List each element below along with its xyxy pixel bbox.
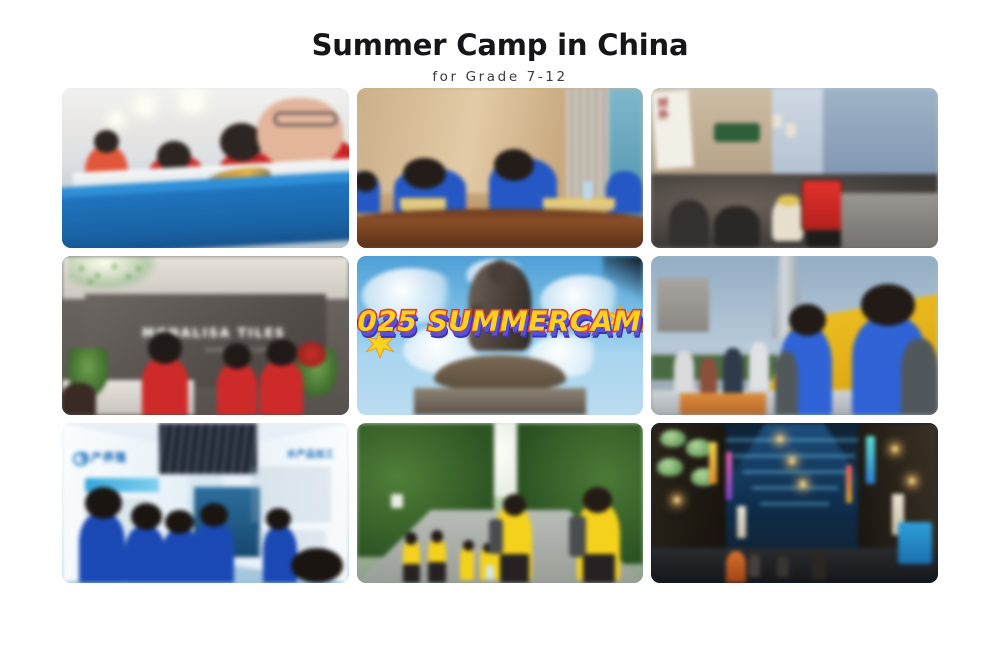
- photo-4-image: MONALISA TILES HOME . DECOR: [62, 256, 349, 416]
- poster-page: Summer Camp in China for Grade 7-12: [0, 0, 1000, 666]
- photo-9-image: [651, 423, 938, 583]
- photo-grid: 对外 MONALISA TILES: [62, 88, 938, 583]
- photo-tile-9[interactable]: [651, 423, 938, 583]
- photo-tile-3[interactable]: 对外: [651, 88, 938, 248]
- photo-2-image: [357, 88, 644, 248]
- poster-header: Summer Camp in China for Grade 7-12: [0, 0, 1000, 85]
- photo-tile-7[interactable]: 水产养殖 水产品加工: [62, 423, 349, 583]
- photo-7-panel-right-text: 水产品加工: [287, 447, 335, 460]
- photo-tile-1[interactable]: [62, 88, 349, 248]
- photo-tile-6[interactable]: [651, 256, 938, 416]
- photo-5-overlay-text: 2025 SUMMERCAMP: [357, 305, 644, 338]
- photo-tile-2[interactable]: [357, 88, 644, 248]
- photo-6-image: [651, 256, 938, 416]
- photo-7-image: 水产养殖 水产品加工: [62, 423, 349, 583]
- photo-tile-8[interactable]: [357, 423, 644, 583]
- photo-8-image: [357, 423, 644, 583]
- page-title: Summer Camp in China: [0, 30, 1000, 62]
- photo-1-image: [62, 88, 349, 248]
- page-subtitle: for Grade 7-12: [0, 69, 1000, 85]
- photo-tile-4[interactable]: MONALISA TILES HOME . DECOR: [62, 256, 349, 416]
- photo-3-image: 对外: [651, 88, 938, 248]
- photo-tile-5[interactable]: 2025 SUMMERCAMP: [357, 256, 644, 416]
